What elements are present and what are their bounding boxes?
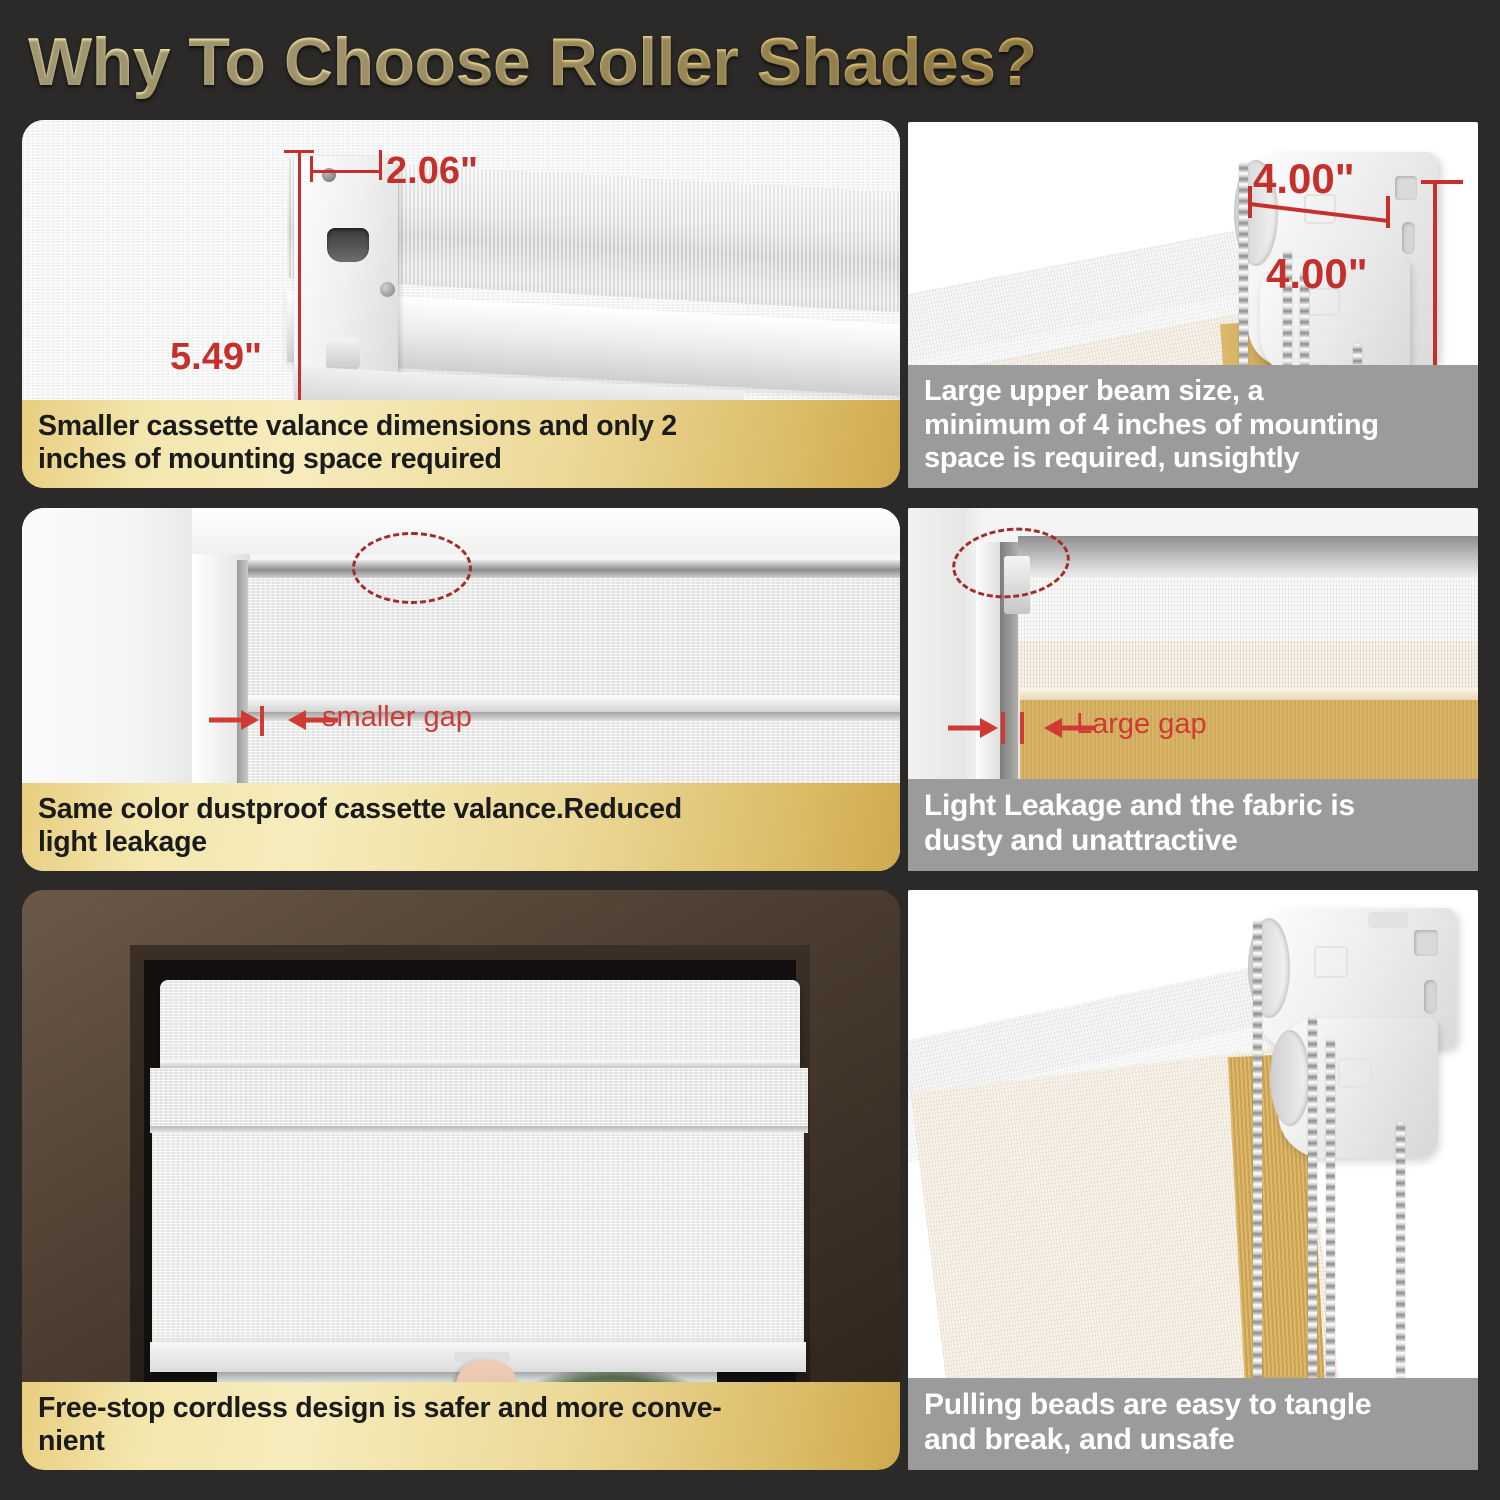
caption-line: inches of mounting space required <box>38 443 886 476</box>
shade-fabric-main <box>152 1133 804 1353</box>
dim-right-label: 4.00" <box>1266 250 1368 298</box>
panel-light-leakage: Large gap Light Leakage and the fabric i… <box>908 508 1478 871</box>
panel-pulling-beads: Pulling beads are easy to tangle and bre… <box>908 890 1478 1470</box>
bracket-logo-2 <box>1338 1058 1372 1088</box>
dim-top-label: 4.00" <box>1253 155 1355 203</box>
dim-width-line <box>310 170 382 173</box>
caption-line: space is required, unsightly <box>924 442 1464 476</box>
dim-width-tick-right <box>379 150 382 180</box>
comparison-grid: 2.06" 5.49" Smaller cassette valance dim… <box>0 0 1500 1500</box>
caption-line: nient <box>38 1425 886 1458</box>
white-fabric-band <box>1018 578 1478 642</box>
gap-label: smaller gap <box>322 701 472 734</box>
panel-cassette-valance: 2.06" 5.49" Smaller cassette valance dim… <box>22 120 900 488</box>
gap-arrows-left <box>946 708 1016 748</box>
fabric-edge-highlight <box>1020 688 1478 700</box>
bracket-logo-1 <box>1314 946 1348 978</box>
caption-line: and break, and unsafe <box>924 1423 1464 1458</box>
valance-groove <box>160 1060 800 1068</box>
caption-line: Free-stop cordless design is safer and m… <box>38 1392 886 1425</box>
caption-dustproof-valance: Same color dustproof cassette valance.Re… <box>22 783 900 871</box>
roller-end-disc-lower <box>1270 1030 1310 1126</box>
caption-line: Same color dustproof cassette valance.Re… <box>38 793 886 826</box>
caption-cordless-design: Free-stop cordless design is safer and m… <box>22 1382 900 1470</box>
dim-width-label: 2.06" <box>386 150 478 193</box>
shade-fabric-upper <box>247 578 900 698</box>
highlight-ellipse <box>352 532 472 604</box>
end-cap-screw-mid <box>380 282 395 297</box>
bottom-rail-shadow <box>150 1126 808 1133</box>
gap-arrows-left <box>207 700 277 740</box>
dim-height-label: 5.49" <box>170 336 262 379</box>
caption-cassette-valance: Smaller cassette valance dimensions and … <box>22 400 900 488</box>
gap-marker-bar <box>260 706 264 736</box>
window-frame-top-casing <box>192 508 900 554</box>
dim-width-tick-left <box>310 156 313 182</box>
head-rail <box>1018 536 1478 578</box>
end-cap-pin <box>326 338 360 370</box>
gap-marker-bar-1 <box>1001 712 1005 744</box>
bracket-slot-2 <box>1424 980 1437 1014</box>
dim-right-line <box>1433 180 1437 380</box>
caption-light-leakage: Light Leakage and the fabric is dusty an… <box>908 779 1478 871</box>
caption-line: Smaller cassette valance dimensions and … <box>38 410 886 443</box>
caption-upper-beam: Large upper beam size, a minimum of 4 in… <box>908 365 1478 488</box>
caption-line: light leakage <box>38 826 886 859</box>
shade-fabric-band <box>150 1068 808 1126</box>
gap-label: Large gap <box>1076 708 1207 741</box>
end-cap-bracket-slot <box>327 228 369 262</box>
caption-line: minimum of 4 inches of mounting <box>924 409 1464 443</box>
bracket-slot-2 <box>1402 222 1415 254</box>
panel-cordless-design: Free-stop cordless design is safer and m… <box>22 890 900 1470</box>
bracket-slot-1 <box>1414 930 1438 956</box>
caption-line: Light Leakage and the fabric is <box>924 789 1464 824</box>
dim-top-tick-left <box>1248 186 1252 218</box>
dim-top-tick-right <box>1386 196 1390 228</box>
bracket-slot-3 <box>1368 912 1408 928</box>
panel-upper-beam: 4.00" 4.00" Large upper beam size, a min… <box>908 122 1478 488</box>
caption-line: Large upper beam size, a <box>924 375 1464 409</box>
dim-right-tick-top <box>1421 180 1463 184</box>
caption-line: dusty and unattractive <box>924 824 1464 859</box>
shade-valance <box>160 980 800 1064</box>
valance-head-rail <box>247 560 900 578</box>
bracket-slot-1 <box>1395 176 1417 200</box>
dim-height-tick-top <box>284 150 314 153</box>
caption-line: Pulling beads are easy to tangle <box>924 1388 1464 1423</box>
caption-pulling-beads: Pulling beads are easy to tangle and bre… <box>908 1378 1478 1470</box>
panel-dustproof-valance: smaller gap Same color dustproof cassett… <box>22 508 900 871</box>
gap-marker-bar-2 <box>1020 712 1024 744</box>
